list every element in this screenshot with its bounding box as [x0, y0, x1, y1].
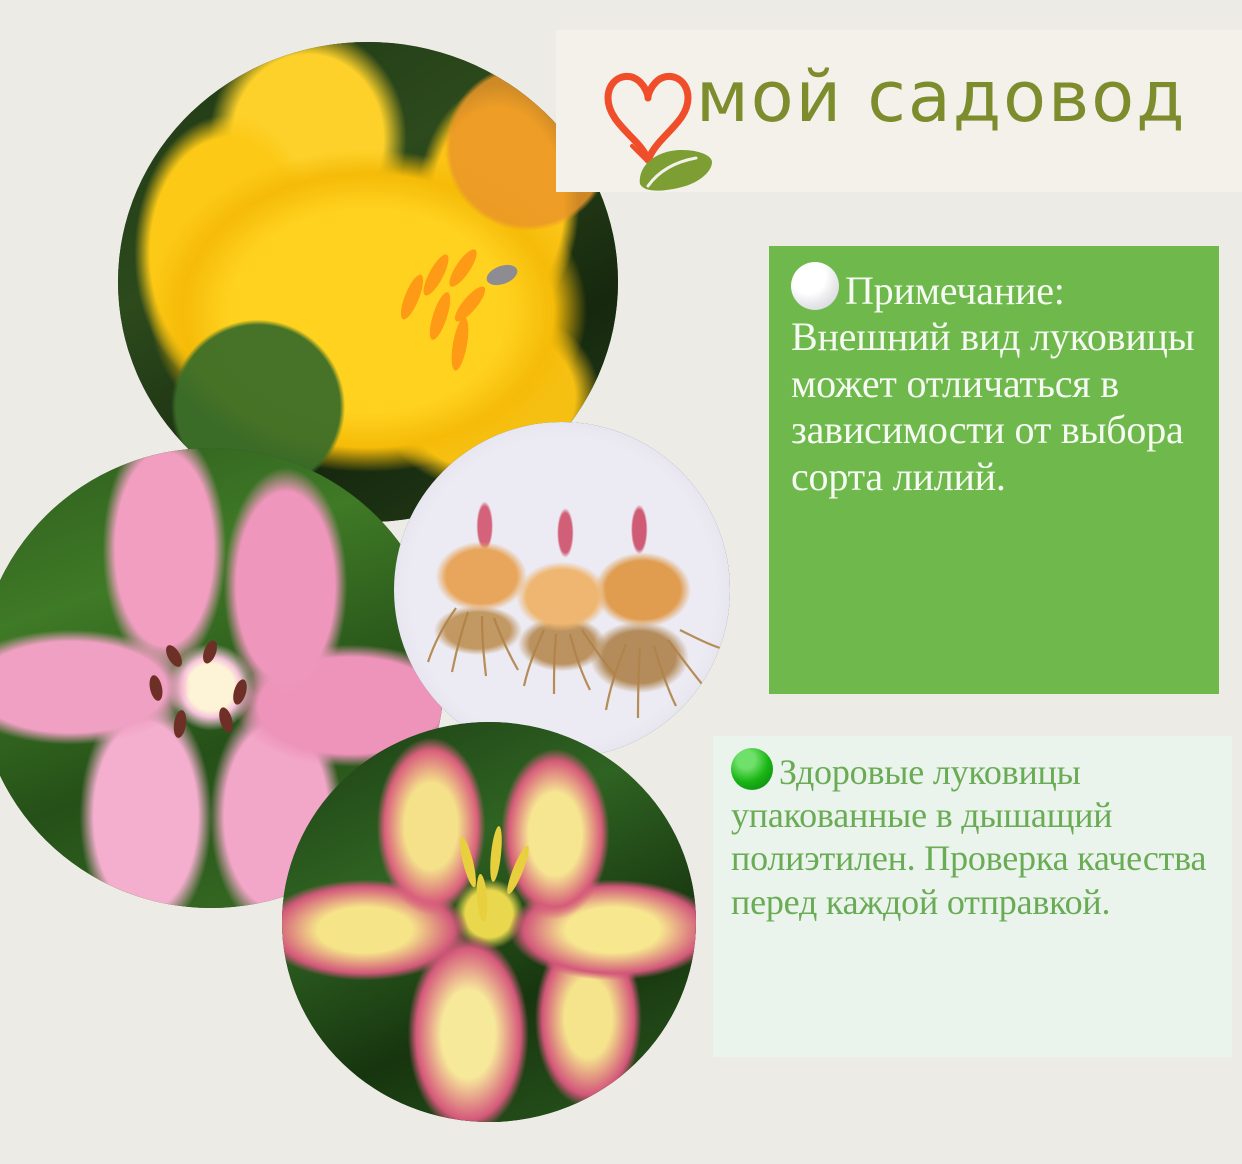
brand-logo: мой садовод	[556, 30, 1242, 192]
note-zdorovye-lukovicy-text: Здоровые луковицы упакованные в дышащий …	[731, 748, 1216, 924]
white-circle-emoji-icon	[791, 262, 839, 310]
note-zdorovye-lukovicy: Здоровые луковицы упакованные в дышащий …	[713, 736, 1232, 1057]
lily-bulbs-photo: Три луковицы лилии с розовыми ростками и…	[394, 422, 730, 758]
note-primechanie-text: Примечание: Внешний вид луковицы может о…	[791, 262, 1199, 500]
promo-page: Крупный жёлтый цветок лилии с оранжевыми…	[0, 0, 1242, 1164]
red-yellow-lily-photo: Жёлто-красная лилия с малиновой середино…	[282, 722, 696, 1122]
note-primechanie: Примечание: Внешний вид луковицы может о…	[769, 246, 1219, 694]
green-circle-emoji-icon	[731, 748, 773, 790]
brand-name: мой садовод	[696, 62, 1186, 132]
note-primechanie-body: Примечание: Внешний вид луковицы может о…	[791, 268, 1194, 499]
leaf-icon	[634, 140, 714, 196]
note-zdorovye-lukovicy-body: Здоровые луковицы упакованные в дышащий …	[731, 752, 1206, 922]
